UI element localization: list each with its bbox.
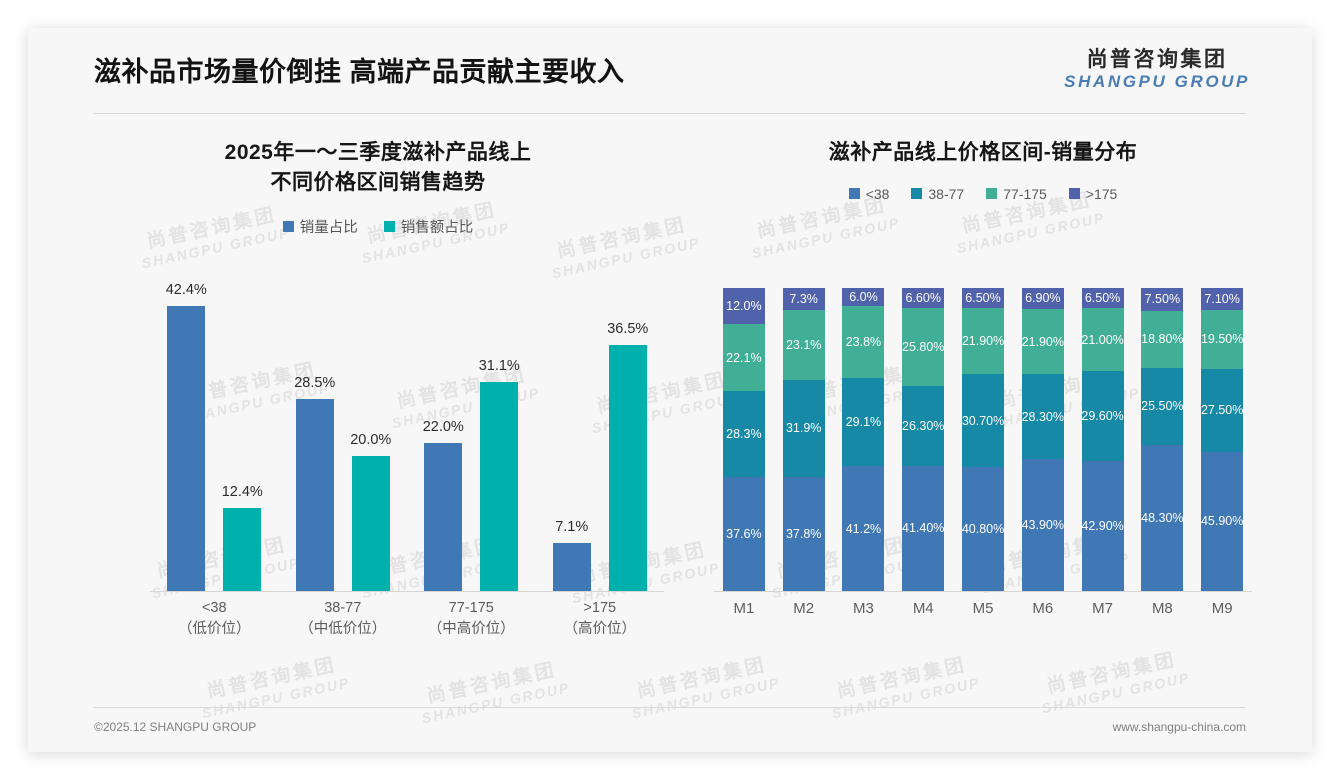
left-chart-title-line1: 2025年一～三季度滋补产品线上 [68,138,688,168]
legend-swatch-icon [911,188,922,199]
stack-segment-M1-77-175[interactable]: 22.1% [723,324,765,391]
stack-segment-M8-77-175[interactable]: 18.80% [1141,311,1183,368]
stacked-bar-M2[interactable]: 7.3%23.1%31.9%37.8% [783,288,825,591]
left-chart-title-line2: 不同价格区间销售趋势 [68,168,688,198]
legend-swatch-icon [384,221,395,232]
stack-segment-M6->175[interactable]: 6.90% [1022,288,1064,309]
stacked-bar-M9[interactable]: 7.10%19.50%27.50%45.90% [1201,288,1243,591]
right-chart-plot-area: 12.0%22.1%28.3%37.6%7.3%23.1%31.9%37.8%6… [714,288,1252,628]
stack-segment-M4-<38[interactable]: 41.40% [902,466,944,591]
stacked-column-M5: 6.50%21.90%30.70%40.80% [953,288,1013,591]
legend-label: >175 [1086,186,1118,202]
stack-segment-M3-77-175[interactable]: 23.8% [842,306,884,378]
brand-logo: 尚普咨询集团 SHANGPU GROUP [1064,48,1250,92]
stacked-bar-M4[interactable]: 6.60%25.80%26.30%41.40% [902,288,944,591]
x-tick->175: >175（高价位） [536,592,665,628]
x-tick-label: 77-175 [407,598,536,619]
stacked-bar-M1[interactable]: 12.0%22.1%28.3%37.6% [723,288,765,591]
x-tick-sublabel: （中低价位） [279,619,408,640]
stack-segment-M7-77-175[interactable]: 21.00% [1082,308,1124,372]
left-chart-title: 2025年一～三季度滋补产品线上 不同价格区间销售趋势 [68,138,688,198]
slide-header: 滋补品市场量价倒挂 高端产品贡献主要收入 尚普咨询集团 SHANGPU GROU… [28,28,1312,116]
stacked-column-M8: 7.50%18.80%25.50%48.30% [1132,288,1192,591]
stack-segment-M6-<38[interactable]: 43.90% [1022,459,1064,591]
legend-label: 38-77 [928,186,964,202]
bar->175-series1[interactable]: 36.5% [609,345,647,591]
bar-77-175-series1[interactable]: 31.1% [480,382,518,591]
stack-segment-M3-38-77[interactable]: 29.1% [842,378,884,466]
stacked-column-M1: 12.0%22.1%28.3%37.6% [714,288,774,591]
right-chart-x-axis: M1M2M3M4M5M6M7M8M9 [714,592,1252,628]
x-tick-M8: M8 [1132,592,1192,628]
bar-38-77-series0[interactable]: 28.5% [296,399,334,591]
stacked-column-M9: 7.10%19.50%27.50%45.90% [1192,288,1252,591]
legend-swatch-icon [986,188,997,199]
logo-chinese-text: 尚普咨询集团 [1064,48,1250,72]
x-tick-label: <38 [150,598,279,619]
left-chart-legend: 销量占比销售额占比 [68,216,688,237]
bar-group-<38: 42.4%12.4% [150,288,279,591]
bar-value-label: 22.0% [423,419,464,435]
chart-panel-right: 滋补产品线上价格区间-销量分布 <3838-7777-175>175 12.0%… [694,138,1272,698]
legend-item-1[interactable]: 38-77 [911,186,964,202]
bar-fill [424,443,462,591]
stack-segment-M5-38-77[interactable]: 30.70% [962,374,1004,467]
x-tick-sublabel: （低价位） [150,619,279,640]
x-tick-M3: M3 [834,592,894,628]
stack-segment-M9->175[interactable]: 7.10% [1201,288,1243,310]
stack-segment-M2->175[interactable]: 7.3% [783,288,825,310]
footer-copyright: ©2025.12 SHANGPU GROUP [94,720,256,734]
stack-segment-M5->175[interactable]: 6.50% [962,288,1004,308]
x-tick-M6: M6 [1013,592,1073,628]
x-tick-<38: <38（低价位） [150,592,279,628]
legend-label: 销售额占比 [401,216,474,237]
legend-item-1[interactable]: 销售额占比 [384,216,474,237]
stack-segment-M4-77-175[interactable]: 25.80% [902,308,944,386]
bar-group-77-175: 22.0%31.1% [407,288,536,591]
x-tick-M7: M7 [1073,592,1133,628]
left-chart-plot-area: 42.4%12.4%28.5%20.0%22.0%31.1%7.1%36.5% … [150,288,664,628]
stack-segment-M5-77-175[interactable]: 21.90% [962,308,1004,374]
logo-english-text: SHANGPU GROUP [1064,72,1250,92]
footer-website: www.shangpu-china.com [1113,720,1246,734]
bar-fill [553,543,591,591]
x-tick-M5: M5 [953,592,1013,628]
stacked-column-M6: 6.90%21.90%28.30%43.90% [1013,288,1073,591]
stack-segment-M9-77-175[interactable]: 19.50% [1201,310,1243,369]
bar-value-label: 7.1% [555,519,588,535]
bar-fill [480,382,518,591]
legend-swatch-icon [849,188,860,199]
legend-label: <38 [866,186,890,202]
x-tick-label: >175 [536,598,665,619]
stacked-bars-container: 12.0%22.1%28.3%37.6%7.3%23.1%31.9%37.8%6… [714,288,1252,592]
stacked-column-M3: 6.0%23.8%29.1%41.2% [834,288,894,591]
bar-value-label: 12.4% [222,484,263,500]
legend-label: 销量占比 [300,216,358,237]
bar-fill [609,345,647,591]
header-divider [94,113,1246,114]
stack-segment-M1-<38[interactable]: 37.6% [723,477,765,591]
stack-segment-M7-<38[interactable]: 42.90% [1082,461,1124,591]
slide-card: 滋补品市场量价倒挂 高端产品贡献主要收入 尚普咨询集团 SHANGPU GROU… [28,28,1312,752]
stack-segment-M7-38-77[interactable]: 29.60% [1082,371,1124,461]
stacked-bar-M6[interactable]: 6.90%21.90%28.30%43.90% [1022,288,1064,591]
bar-<38-series1[interactable]: 12.4% [223,508,261,591]
bar-value-label: 31.1% [479,358,520,374]
footer-divider [94,707,1246,708]
stack-segment-M6-38-77[interactable]: 28.30% [1022,374,1064,459]
chart-panel-left: 2025年一～三季度滋补产品线上 不同价格区间销售趋势 销量占比销售额占比 42… [68,138,688,698]
stack-segment-M8-<38[interactable]: 48.30% [1141,445,1183,591]
stack-segment-M7->175[interactable]: 6.50% [1082,288,1124,308]
bar-fill [352,456,390,591]
stacked-column-M4: 6.60%25.80%26.30%41.40% [893,288,953,591]
bar-value-label: 28.5% [294,375,335,391]
bar-fill [223,508,261,591]
bar-fill [167,306,205,591]
legend-swatch-icon [1069,188,1080,199]
page-title: 滋补品市场量价倒挂 高端产品贡献主要收入 [94,50,625,89]
stack-segment-M9-<38[interactable]: 45.90% [1201,452,1243,591]
x-tick-M1: M1 [714,592,774,628]
stack-segment-M1-38-77[interactable]: 28.3% [723,391,765,477]
bar-value-label: 42.4% [166,282,207,298]
legend-item-0[interactable]: 销量占比 [283,216,358,237]
x-tick-sublabel: （中高价位） [407,619,536,640]
legend-swatch-icon [283,221,294,232]
x-tick-sublabel: （高价位） [536,619,665,640]
stack-segment-M6-77-175[interactable]: 21.90% [1022,309,1064,375]
stack-segment-M3->175[interactable]: 6.0% [842,288,884,306]
bar-fill [296,399,334,591]
stack-segment-M4->175[interactable]: 6.60% [902,288,944,308]
stack-segment-M5-<38[interactable]: 40.80% [962,467,1004,591]
legend-item-0[interactable]: <38 [849,186,890,202]
x-tick-77-175: 77-175（中高价位） [407,592,536,628]
stack-segment-M9-38-77[interactable]: 27.50% [1201,369,1243,452]
stack-segment-M2-38-77[interactable]: 31.9% [783,380,825,477]
stack-segment-M3-<38[interactable]: 41.2% [842,466,884,591]
stacked-column-M2: 7.3%23.1%31.9%37.8% [774,288,834,591]
bar-value-label: 20.0% [350,432,391,448]
right-chart-legend: <3838-7777-175>175 [694,186,1272,202]
stack-segment-M8-38-77[interactable]: 25.50% [1141,368,1183,445]
stack-segment-M2-<38[interactable]: 37.8% [783,477,825,591]
bar-group->175: 7.1%36.5% [536,288,665,591]
stack-segment-M2-77-175[interactable]: 23.1% [783,310,825,380]
legend-item-2[interactable]: 77-175 [986,186,1047,202]
stack-segment-M4-38-77[interactable]: 26.30% [902,386,944,466]
bar-group-38-77: 28.5%20.0% [279,288,408,591]
x-tick-38-77: 38-77（中低价位） [279,592,408,628]
stacked-bar-M7[interactable]: 6.50%21.00%29.60%42.90% [1082,288,1124,591]
left-chart-x-axis: <38（低价位）38-77（中低价位）77-175（中高价位）>175（高价位） [150,592,664,628]
right-chart-title: 滋补产品线上价格区间-销量分布 [694,138,1272,168]
stacked-column-M7: 6.50%21.00%29.60%42.90% [1073,288,1133,591]
stack-segment-M1->175[interactable]: 12.0% [723,288,765,324]
x-tick-label: 38-77 [279,598,408,619]
bar-value-label: 36.5% [607,321,648,337]
bar-77-175-series0[interactable]: 22.0% [424,443,462,591]
x-tick-M9: M9 [1192,592,1252,628]
bar-<38-series0[interactable]: 42.4% [167,306,205,591]
legend-label: 77-175 [1003,186,1047,202]
legend-item-3[interactable]: >175 [1069,186,1118,202]
stacked-bar-M3[interactable]: 6.0%23.8%29.1%41.2% [842,288,884,591]
bar-38-77-series1[interactable]: 20.0% [352,456,390,591]
stacked-bar-M5[interactable]: 6.50%21.90%30.70%40.80% [962,288,1004,591]
grouped-bars-container: 42.4%12.4%28.5%20.0%22.0%31.1%7.1%36.5% [150,288,664,592]
stack-segment-M8->175[interactable]: 7.50% [1141,288,1183,311]
stacked-bar-M8[interactable]: 7.50%18.80%25.50%48.30% [1141,288,1183,591]
x-tick-M4: M4 [893,592,953,628]
bar->175-series0[interactable]: 7.1% [553,543,591,591]
x-tick-M2: M2 [774,592,834,628]
